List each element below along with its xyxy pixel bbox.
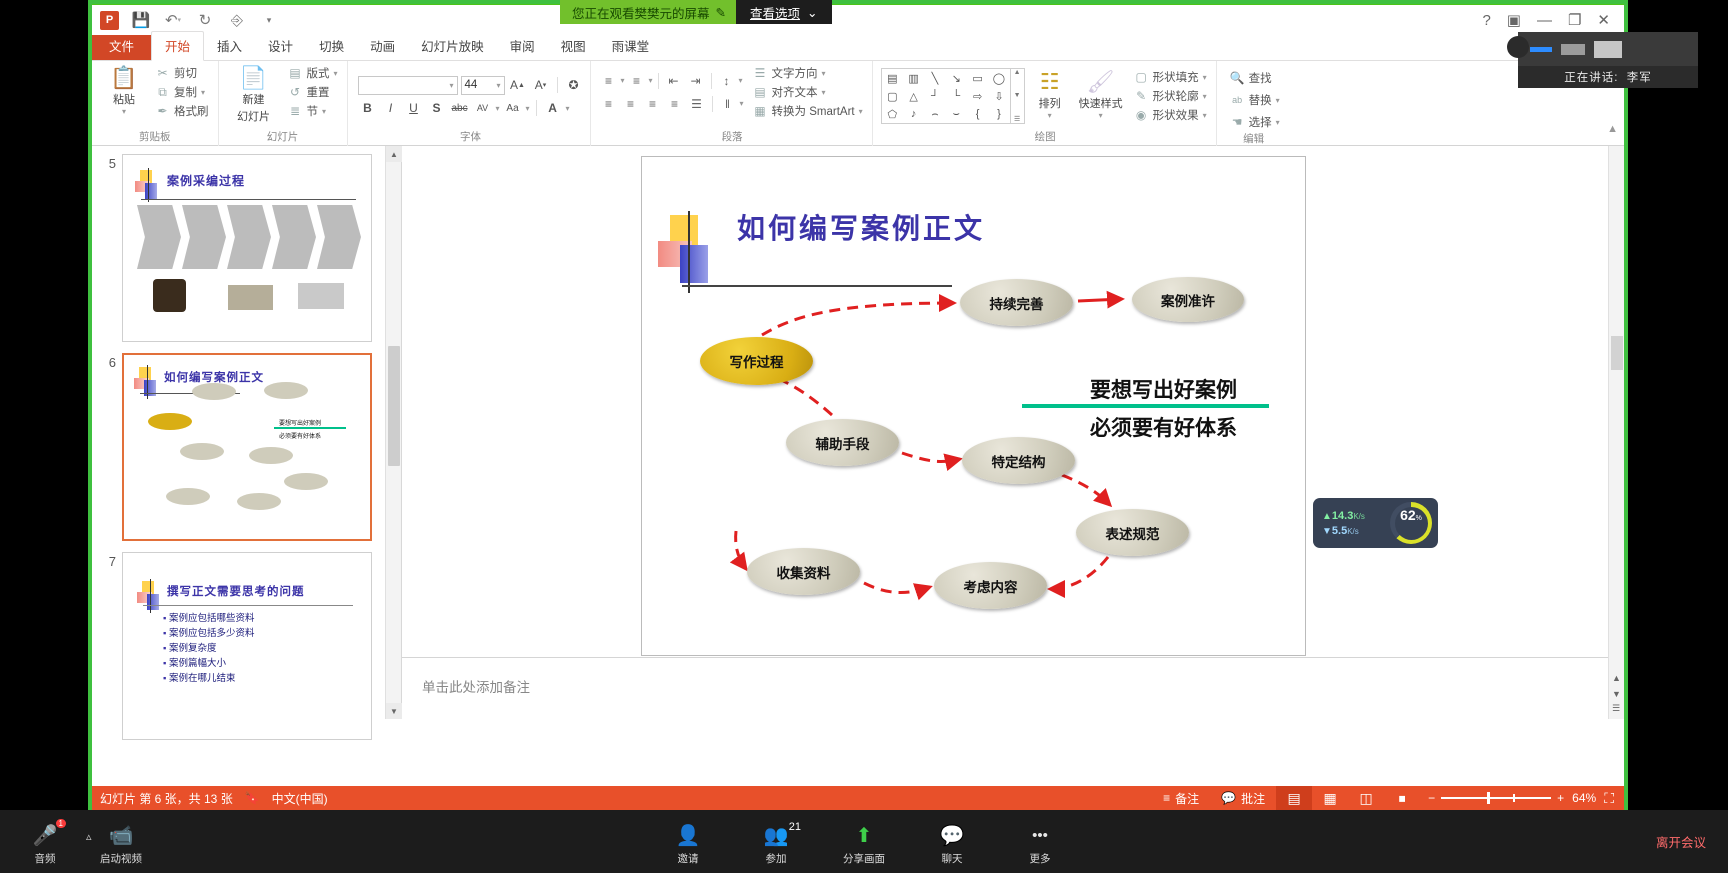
chevron-down-icon[interactable]: ⌄ — [807, 5, 817, 20]
font-color-button[interactable]: A — [543, 99, 563, 118]
invite-button[interactable]: 👤 邀请 — [657, 817, 719, 866]
zoom-toolbar-center: 👤 邀请 21 👥 参加 ⬆ 分享画面 💬 聊天 ••• 更多 — [657, 817, 1071, 866]
start-presentation-icon[interactable]: ⎆ — [227, 10, 247, 30]
shape-line-icon[interactable]: ╲ — [932, 72, 939, 85]
node-anli-zhunxu[interactable]: 案例准许 — [1132, 277, 1244, 322]
format-painter-button[interactable]: ✒格式刷 — [152, 102, 212, 120]
slide-scroll-thumb[interactable] — [1611, 336, 1623, 370]
notes-placeholder[interactable]: 单击此处添加备注 — [422, 676, 530, 696]
invite-person-icon: 👤 — [676, 823, 701, 848]
node-kaolv-neirong[interactable]: 考虑内容 — [934, 562, 1047, 609]
character-spacing-button[interactable]: AV — [473, 99, 493, 118]
replace-caret-icon[interactable]: ▾ — [1276, 96, 1280, 105]
tab-review[interactable]: 审阅 — [497, 32, 548, 60]
shape-elbow-arrow-icon[interactable]: └ — [952, 90, 960, 102]
zoom-level-label[interactable]: 64% — [1572, 791, 1604, 805]
shape-vertical-textbox-icon[interactable]: ▥ — [908, 72, 918, 85]
network-speed-widget[interactable]: ▲14.3K/s ▼5.5K/s 62% — [1313, 498, 1438, 548]
font-size-input[interactable]: 44▾ — [461, 76, 505, 95]
font-color-caret-icon[interactable]: ▾ — [566, 104, 570, 113]
new-slide-icon: 📄 — [240, 66, 267, 90]
thumbnail-number-5: 5 — [102, 154, 116, 342]
italic-button[interactable]: I — [381, 99, 401, 118]
layout-caret-icon[interactable]: ▾ — [334, 69, 338, 78]
ribbon-display-icon[interactable]: ▣ — [1507, 11, 1521, 29]
restore-button[interactable]: ❐ — [1568, 11, 1581, 29]
comments-button-label: 批注 — [1241, 790, 1265, 807]
slide-count-label: 幻灯片 第 6 张，共 13 张 — [100, 790, 233, 807]
copy-caret-icon[interactable]: ▾ — [201, 88, 205, 97]
underline-button[interactable]: U — [404, 99, 424, 118]
node-teding-jiegou[interactable]: 特定结构 — [962, 437, 1075, 484]
layout-label: 版式 — [307, 65, 330, 81]
normal-view-button[interactable]: ▤ — [1276, 786, 1312, 810]
thumbnail-preview-5[interactable]: 案例采编过程 — [122, 154, 372, 342]
zoom-slider[interactable]: − + — [1420, 791, 1572, 805]
reset-label: 重置 — [307, 84, 330, 100]
section-caret-icon[interactable]: ▾ — [322, 107, 326, 116]
shape-fill-caret-icon[interactable]: ▾ — [1203, 73, 1207, 82]
audio-button[interactable]: 1 🎤 音频 — [14, 817, 76, 866]
align-text-caret-icon[interactable]: ▾ — [822, 88, 826, 97]
upload-value: 14.3 — [1332, 510, 1353, 522]
video-thumb-2 — [1561, 44, 1585, 55]
numbering-button[interactable]: ≡ — [627, 71, 647, 90]
scissors-icon: ✂ — [155, 66, 170, 80]
tab-home[interactable]: 开始 — [151, 31, 204, 61]
shapes-gallery-scrollbar[interactable]: ▲ ▼ ☰ — [1011, 68, 1025, 124]
reading-view-button[interactable]: ◫ — [1348, 786, 1384, 810]
slide-stage: 如何编写案例正文 — [402, 146, 1624, 719]
zoom-meeting-toolbar: 1 🎤 音频 📹 启动视频 ▵ 👤 邀请 21 👥 参加 ⬆ 分享画面 — [0, 810, 1728, 873]
zoom-in-button[interactable]: + — [1557, 791, 1564, 805]
clear-formatting-button[interactable]: ✪ — [564, 76, 584, 95]
status-bar: 幻灯片 第 6 张，共 13 张 🔖 中文(中国) ≡备注 💬批注 ▤ ▦ ◫ … — [92, 786, 1624, 810]
shape-left-brace-icon[interactable]: { — [976, 108, 980, 120]
shape-fill-icon: ▢ — [1134, 70, 1149, 84]
format-painter-label: 格式刷 — [174, 103, 209, 119]
clipboard-group-label: 剪贴板 — [98, 129, 212, 146]
video-camera-icon: 📹 — [109, 823, 134, 848]
shape-arc-icon[interactable]: ⌢ — [931, 108, 938, 121]
quick-styles-label: 快速样式 — [1079, 95, 1123, 111]
shape-elbow-connector-icon[interactable]: ┘ — [931, 90, 939, 102]
justify-button[interactable]: ≡ — [665, 94, 685, 113]
paragraph-group-label: 段落 — [599, 129, 866, 146]
node-fuzhu-shouduan[interactable]: 辅助手段 — [786, 419, 899, 466]
new-slide-label-1: 新建 — [243, 91, 265, 107]
slide-scrollbar[interactable]: ▲ ▼ ☰ — [1608, 146, 1624, 719]
copy-button[interactable]: ⧉复制▾ — [152, 83, 212, 101]
copy-icon: ⧉ — [155, 85, 170, 100]
thumbnail-7-bullet-3: 案例篇幅大小 — [169, 658, 226, 669]
leave-meeting-button[interactable]: 离开会议 — [1656, 832, 1706, 851]
paste-caret-icon[interactable]: ▾ — [122, 107, 126, 116]
comment-icon: 💬 — [1221, 791, 1236, 805]
shapes-more-icon[interactable]: ☰ — [1014, 115, 1020, 123]
shape-right-brace-icon[interactable]: } — [997, 108, 1001, 120]
align-text-button[interactable]: ▤对齐文本▾ — [750, 83, 866, 101]
paste-icon: 📋 — [110, 66, 137, 90]
zoom-video-overlay[interactable]: 正在讲话: 李军 — [1518, 32, 1698, 88]
slide-sorter-view-button[interactable]: ▦ — [1312, 786, 1348, 810]
drawing-group-label: 绘图 — [881, 129, 1210, 146]
decrease-indent-button[interactable]: ⇤ — [664, 71, 684, 90]
network-rates: ▲14.3K/s ▼5.5K/s — [1313, 510, 1365, 537]
shape-effects-label: 形状效果 — [1153, 107, 1199, 123]
customize-qat-icon[interactable]: ▾ — [259, 10, 279, 30]
change-case-caret-icon[interactable]: ▾ — [526, 104, 530, 113]
section-label: 节 — [307, 103, 319, 119]
convert-smartart-label: 转换为 SmartArt — [772, 103, 855, 119]
share-notice-text-area: 您正在观看樊樊元的屏幕 ✎ — [560, 0, 736, 24]
cpu-usage-percent: 62 — [1400, 507, 1416, 523]
video-thumbnail-strip — [1518, 32, 1698, 66]
select-button[interactable]: ☚选择▾ — [1227, 113, 1283, 131]
quick-styles-button[interactable]: 🖌 快速样式 ▾ — [1075, 68, 1127, 120]
convert-smartart-button[interactable]: ▦转换为 SmartArt▾ — [750, 102, 866, 120]
cut-button[interactable]: ✂剪切 — [152, 64, 212, 82]
more-dots-icon: ••• — [1032, 823, 1048, 848]
bullets-button[interactable]: ≡ — [599, 71, 619, 90]
align-right-button[interactable]: ≡ — [643, 94, 663, 113]
video-thumb-3 — [1594, 41, 1622, 58]
ribbon-group-clipboard: 📋 粘贴 ▾ ✂剪切 ⧉复制▾ ✒格式刷 剪贴板 — [92, 61, 219, 146]
quick-access-toolbar: P 💾 ↶▾ ↻ ⎆ ▾ ? ▣ — ❐ ✕ — [92, 5, 1624, 35]
reset-button[interactable]: ↺重置 — [285, 83, 341, 101]
cut-label: 剪切 — [174, 65, 197, 81]
minimize-button[interactable]: — — [1537, 12, 1552, 29]
font-size-caret-icon[interactable]: ▾ — [497, 81, 501, 90]
zoom-slider-knob[interactable] — [1487, 792, 1490, 804]
notes-pane[interactable]: 单击此处添加备注 — [402, 657, 1624, 719]
character-spacing-caret-icon[interactable]: ▾ — [496, 104, 500, 113]
thumbnail-7-bullet-0: 案例应包括哪些资料 — [169, 613, 255, 624]
window-controls: ? ▣ — ❐ ✕ — [1482, 5, 1620, 35]
ribbon-group-paragraph: ≡ ▾ ≡ ▾ ⇤ ⇥ ↕ ▾ ≡ — [591, 61, 873, 146]
change-case-button[interactable]: Aa — [503, 99, 523, 118]
replace-label: 替换 — [1249, 92, 1272, 108]
share-screen-label: 分享画面 — [843, 851, 885, 866]
shape-arrow-icon[interactable]: ↘ — [952, 72, 961, 85]
collapse-ribbon-icon[interactable]: ▲ — [1607, 123, 1618, 135]
shrink-font-button[interactable]: A▾ — [531, 76, 551, 95]
font-group-label: 字体 — [358, 129, 584, 146]
shape-down-arrow-icon[interactable]: ⇩ — [994, 90, 1003, 103]
new-slide-label-2: 幻灯片 — [237, 108, 270, 124]
participants-icon: 👥 — [764, 823, 789, 848]
format-painter-icon: ✒ — [155, 104, 170, 118]
upload-arrow-icon: ▲ — [1322, 511, 1332, 522]
ribbon-tabs: 文件 开始 插入 设计 切换 动画 幻灯片放映 审阅 视图 雨课堂 — [92, 35, 1624, 61]
callout-line-2[interactable]: 必须要有好体系 — [1090, 412, 1237, 442]
thumbnail-slide-6[interactable]: 6 如何编写案例正文 — [102, 353, 401, 541]
notes-icon: ≡ — [1163, 791, 1170, 805]
thumbnail-slide-5[interactable]: 5 案例采编过程 — [102, 154, 401, 342]
more-button[interactable]: ••• 更多 — [1009, 817, 1071, 866]
tab-rain-classroom[interactable]: 雨课堂 — [599, 32, 663, 60]
shapes-scroll-up-icon[interactable]: ▲ — [1014, 69, 1021, 76]
shape-fill-button[interactable]: ▢形状填充▾ — [1131, 68, 1210, 86]
share-screen-button[interactable]: ⬆ 分享画面 — [833, 817, 895, 866]
audio-label: 音频 — [35, 851, 56, 866]
thumbnail-number-6: 6 — [102, 353, 116, 541]
upload-unit: K/s — [1353, 512, 1365, 521]
font-name-input[interactable]: ▾ — [358, 76, 458, 95]
next-slide-icon[interactable]: ▼ — [1612, 689, 1621, 699]
paste-label: 粘贴 — [113, 91, 135, 107]
shape-outline-label: 形状轮廓 — [1153, 88, 1199, 104]
more-label: 更多 — [1030, 851, 1051, 866]
download-arrow-icon: ▼ — [1322, 526, 1332, 537]
text-direction-caret-icon[interactable]: ▾ — [822, 69, 826, 78]
reset-icon: ↺ — [288, 85, 303, 99]
bold-button[interactable]: B — [358, 99, 378, 118]
numbering-caret-icon[interactable]: ▾ — [649, 76, 653, 85]
share-notice-label: 您正在观看樊樊元的屏幕 — [572, 3, 710, 22]
thumbnail-scroll-down-icon[interactable]: ▼ — [386, 703, 402, 719]
quick-styles-caret-icon[interactable]: ▾ — [1099, 111, 1103, 120]
copy-label: 复制 — [174, 84, 197, 100]
participants-count: 21 — [789, 821, 801, 833]
language-label[interactable]: 中文(中国) — [272, 790, 328, 807]
shape-pentagon-icon[interactable]: ⬠ — [887, 108, 897, 121]
smartart-caret-icon[interactable]: ▾ — [859, 107, 863, 116]
zoom-slider-track[interactable] — [1441, 797, 1551, 799]
download-value: 5.5 — [1332, 525, 1347, 537]
thumbnail-scroll-up-icon[interactable]: ▲ — [386, 146, 402, 162]
shape-oval-icon[interactable]: ◯ — [993, 72, 1005, 85]
layout-button[interactable]: ▤版式▾ — [285, 64, 341, 82]
cursor-icon: ☚ — [1230, 115, 1245, 129]
strikethrough-button[interactable]: abc — [450, 99, 470, 118]
increase-indent-button[interactable]: ⇥ — [686, 71, 706, 90]
tab-slideshow[interactable]: 幻灯片放映 — [408, 32, 497, 60]
upload-rate: ▲14.3K/s — [1322, 510, 1365, 522]
microphone-icon: 🎤 — [33, 823, 58, 848]
shape-effects-icon: ◉ — [1134, 108, 1149, 122]
shape-curve-icon[interactable]: ⌣ — [953, 108, 960, 121]
callout-line-1[interactable]: 要想写出好案例 — [1090, 374, 1237, 404]
text-direction-icon: ☰ — [753, 66, 768, 80]
shape-textbox-icon[interactable]: ▤ — [887, 72, 897, 85]
tab-insert[interactable]: 插入 — [204, 32, 255, 60]
select-label: 选择 — [1249, 114, 1272, 130]
workspace: 5 案例采编过程 — [92, 146, 1624, 719]
cpu-usage-value-wrap: 62% — [1395, 507, 1428, 540]
node-xiezuo-guocheng[interactable]: 写作过程 — [700, 337, 813, 385]
slide-thumbnail-pane: 5 案例采编过程 — [92, 146, 402, 719]
fit-to-window-icon[interactable]: ⛶ — [1604, 790, 1618, 807]
invite-label: 邀请 — [678, 851, 699, 866]
search-icon: 🔍 — [1230, 71, 1245, 85]
cpu-usage-ring: 62% — [1390, 502, 1432, 544]
find-button[interactable]: 🔍查找 — [1227, 69, 1283, 87]
shape-outline-button[interactable]: ✎形状轮廓▾ — [1131, 87, 1210, 105]
speaker-name: 李军 — [1627, 69, 1652, 85]
shape-fill-label: 形状填充 — [1153, 69, 1199, 85]
paste-button[interactable]: 📋 粘贴 ▾ — [98, 64, 150, 116]
new-slide-button[interactable]: 📄 新建 幻灯片 — [225, 64, 283, 124]
node-chixu-wanshan[interactable]: 持续完善 — [960, 279, 1073, 326]
tab-view[interactable]: 视图 — [548, 32, 599, 60]
font-name-caret-icon[interactable]: ▾ — [450, 81, 454, 90]
section-icon: ≣ — [288, 104, 303, 118]
powerpoint-window: P 💾 ↶▾ ↻ ⎆ ▾ ? ▣ — ❐ ✕ 文件 开始 插入 设计 切换 动画… — [92, 5, 1624, 810]
active-speaker-bar: 正在讲话: 李军 — [1518, 66, 1698, 88]
line-spacing-caret-icon[interactable]: ▾ — [739, 76, 743, 85]
view-options-button[interactable]: 查看选项 ⌄ — [736, 0, 832, 24]
replace-button[interactable]: ab替换▾ — [1227, 91, 1283, 109]
node-shouji-ziliao[interactable]: 收集资料 — [747, 548, 860, 595]
audio-options-chevron-icon[interactable]: ▵ — [86, 830, 92, 843]
save-icon[interactable]: 💾 — [131, 10, 151, 30]
align-center-button[interactable]: ≡ — [621, 94, 641, 113]
shape-effects-button[interactable]: ◉形状效果▾ — [1131, 106, 1210, 124]
text-direction-button[interactable]: ☰文字方向▾ — [750, 64, 866, 82]
language-icon[interactable]: 🔖 — [245, 791, 260, 805]
shape-right-arrow-icon[interactable]: ⇨ — [973, 90, 982, 103]
video-thumb-1 — [1530, 47, 1552, 52]
shape-rounded-rect-icon[interactable]: ▢ — [887, 90, 897, 103]
download-unit: K/s — [1347, 527, 1359, 536]
scroll-end-icon[interactable]: ☰ — [1612, 703, 1620, 714]
participants-button[interactable]: 21 👥 参加 — [745, 817, 807, 866]
thumbnail-scroll-thumb[interactable] — [388, 346, 400, 466]
arrange-caret-icon[interactable]: ▾ — [1048, 111, 1052, 120]
layout-icon: ▤ — [288, 66, 303, 80]
chat-button[interactable]: 💬 聊天 — [921, 817, 983, 866]
thumbnail-preview-7[interactable]: 撰写正文需要思考的问题 ▪ 案例应包括哪些资料 ▪ 案例应包括多少资料 ▪ 案例… — [122, 552, 372, 740]
align-text-label: 对齐文本 — [772, 84, 818, 100]
smartart-icon: ▦ — [753, 104, 768, 118]
powerpoint-logo-icon: P — [100, 11, 119, 30]
quick-styles-icon: 🖌 — [1087, 70, 1115, 94]
shape-freeform-icon[interactable]: ♪ — [911, 108, 917, 120]
thumbnail-7-bullet-4: 案例在哪儿结束 — [169, 673, 236, 684]
notes-button[interactable]: ≡备注 — [1152, 786, 1210, 810]
tab-animations[interactable]: 动画 — [357, 32, 408, 60]
ribbon-group-drawing: ▤ ▥ ╲ ↘ ▭ ◯ ▢ △ ┘ └ ⇨ ⇩ ⬠ — [873, 61, 1217, 146]
close-button[interactable]: ✕ — [1597, 11, 1610, 29]
text-direction-label: 文字方向 — [772, 65, 818, 81]
zoom-slider-midpoint — [1513, 794, 1515, 802]
arrange-icon: ☷ — [1040, 70, 1060, 94]
tab-file[interactable]: 文件 — [92, 31, 151, 60]
arrange-label: 排列 — [1039, 95, 1061, 111]
shapes-scroll-down-icon[interactable]: ▼ — [1014, 92, 1021, 99]
text-shadow-button[interactable]: S — [427, 99, 447, 118]
tab-transitions[interactable]: 切换 — [306, 32, 357, 60]
video-overlay-drag-handle[interactable] — [1507, 36, 1529, 58]
thumbnail-slide-7[interactable]: 7 撰写正文需要思考的问题 ▪ 案例应包括哪些资料 ▪ 案例应包括多少资料 — [102, 552, 401, 740]
ribbon-body: 📋 粘贴 ▾ ✂剪切 ⧉复制▾ ✒格式刷 剪贴板 📄 — [92, 61, 1624, 146]
ribbon-group-editing: 🔍查找 ab替换▾ ☚选择▾ 编辑 — [1217, 61, 1289, 146]
columns-button[interactable]: ‖ — [718, 94, 738, 113]
shape-effects-caret-icon[interactable]: ▾ — [1203, 111, 1207, 120]
select-caret-icon[interactable]: ▾ — [1276, 118, 1280, 127]
chat-bubble-icon: 💬 — [940, 823, 965, 848]
screen-root: P 💾 ↶▾ ↻ ⎆ ▾ ? ▣ — ❐ ✕ 文件 开始 插入 设计 切换 动画… — [0, 0, 1728, 873]
chat-label: 聊天 — [942, 851, 963, 866]
shape-triangle-icon[interactable]: △ — [909, 90, 917, 103]
participants-label: 参加 — [766, 851, 787, 866]
thumbnail-preview-6[interactable]: 如何编写案例正文 要想写出好案例 必须要有好体系 — [122, 353, 372, 541]
thumbnail-number-7: 7 — [102, 552, 116, 740]
view-options-label: 查看选项 — [750, 3, 800, 22]
shapes-gallery[interactable]: ▤ ▥ ╲ ↘ ▭ ◯ ▢ △ ┘ └ ⇨ ⇩ ⬠ — [881, 68, 1011, 124]
find-label: 查找 — [1249, 70, 1272, 86]
thumbnail-title-7: 撰写正文需要思考的问题 — [167, 583, 305, 599]
notes-button-label: 备注 — [1175, 790, 1199, 807]
slide-canvas[interactable]: 如何编写案例正文 — [641, 156, 1306, 656]
start-video-button[interactable]: 📹 启动视频 — [90, 817, 152, 866]
shape-rectangle-icon[interactable]: ▭ — [972, 72, 982, 85]
help-icon[interactable]: ? — [1482, 12, 1490, 29]
zoom-out-button[interactable]: − — [1428, 791, 1435, 805]
line-spacing-button[interactable]: ↕ — [717, 71, 737, 90]
comments-button[interactable]: 💬批注 — [1210, 786, 1276, 810]
bullets-caret-icon[interactable]: ▾ — [621, 76, 625, 85]
undo-icon[interactable]: ↶▾ — [163, 10, 183, 30]
slides-group-label: 幻灯片 — [225, 129, 341, 146]
thumbnail-scrollbar[interactable]: ▲ ▼ — [385, 146, 401, 719]
speaking-label: 正在讲话: — [1564, 69, 1618, 85]
audio-alert-badge: 1 — [56, 819, 66, 828]
align-text-icon: ▤ — [753, 85, 768, 99]
section-button[interactable]: ≣节▾ — [285, 102, 341, 120]
annotate-pencil-icon[interactable]: ✎ — [716, 5, 726, 20]
thumbnail-7-bullet-2: 案例复杂度 — [169, 643, 217, 654]
node-biaoshu-guifan[interactable]: 表述规范 — [1076, 509, 1189, 556]
align-left-button[interactable]: ≡ — [599, 94, 619, 113]
callout-divider — [1022, 404, 1269, 408]
cpu-usage-unit: % — [1416, 515, 1422, 522]
shape-outline-caret-icon[interactable]: ▾ — [1203, 92, 1207, 101]
slideshow-view-button[interactable]: ⏹ — [1384, 786, 1420, 810]
ribbon-group-font: ▾ 44▾ A▲ A▾ ✪ B I U S abc AV ▾ — [348, 61, 591, 146]
replace-icon: ab — [1230, 95, 1245, 105]
tab-design[interactable]: 设计 — [255, 32, 306, 60]
start-video-label: 启动视频 — [100, 851, 142, 866]
thumbnail-7-bullet-1: 案例应包括多少资料 — [169, 628, 255, 639]
shape-outline-icon: ✎ — [1134, 89, 1149, 103]
share-screen-icon: ⬆ — [856, 823, 873, 848]
ribbon-group-slides: 📄 新建 幻灯片 ▤版式▾ ↺重置 ≣节▾ 幻灯片 — [219, 61, 348, 146]
redo-icon[interactable]: ↻ — [195, 10, 215, 30]
previous-slide-icon[interactable]: ▲ — [1612, 673, 1621, 683]
distribute-button[interactable]: ☰ — [687, 94, 707, 113]
grow-font-button[interactable]: A▲ — [508, 76, 528, 95]
screen-share-notice: 您正在观看樊樊元的屏幕 ✎ 查看选项 ⌄ — [560, 0, 832, 24]
download-rate: ▼5.5K/s — [1322, 525, 1365, 537]
font-size-value: 44 — [465, 79, 478, 91]
thumbnail-title-5: 案例采编过程 — [167, 172, 245, 189]
arrange-button[interactable]: ☷ 排列 ▾ — [1025, 68, 1075, 120]
